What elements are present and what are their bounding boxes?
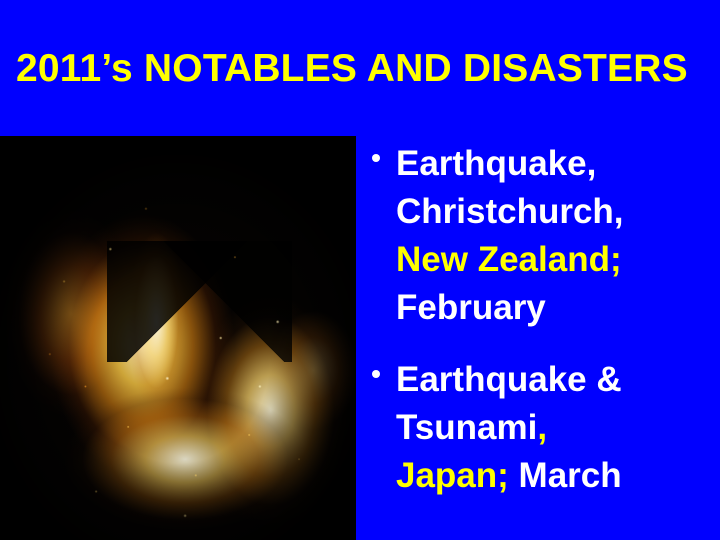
page-title: 2011’s NOTABLES AND DISASTERS: [16, 46, 706, 92]
bullet-line: Tsunami,: [396, 404, 712, 452]
photo-vignette: [0, 136, 356, 540]
bullet-line: Earthquake &: [396, 356, 712, 404]
bullet-line: Christchurch,: [396, 188, 712, 236]
bullet-text-run: Earthquake,: [396, 144, 596, 183]
bullet-text-run-highlight: Japan;: [396, 456, 509, 495]
bullet-text-run: Tsunami: [396, 408, 537, 447]
bullet-point-icon: [372, 154, 380, 162]
list-item: Earthquake & Tsunami, Japan; March: [370, 356, 712, 500]
presentation-slide: 2011’s NOTABLES AND DISASTERS Earthquake…: [0, 0, 720, 540]
bullet-text-run: February: [396, 288, 546, 327]
bullet-list: Earthquake, Christchurch, New Zealand; F…: [370, 140, 712, 524]
bullet-line: New Zealand;: [396, 236, 712, 284]
bullet-line: February: [396, 284, 712, 332]
bullet-text-run: March: [509, 456, 622, 495]
bullet-text-run: Christchurch,: [396, 192, 624, 231]
bullet-line: Earthquake,: [396, 140, 712, 188]
bullet-point-icon: [372, 370, 380, 378]
bullet-line: Japan; March: [396, 452, 712, 500]
bullet-text-block: Earthquake & Tsunami, Japan; March: [396, 356, 712, 500]
list-item: Earthquake, Christchurch, New Zealand; F…: [370, 140, 712, 332]
bullet-text-run-highlight: New Zealand;: [396, 240, 622, 279]
bullet-text-run: Earthquake &: [396, 360, 622, 399]
bullet-text-block: Earthquake, Christchurch, New Zealand; F…: [396, 140, 712, 332]
fire-disaster-photo: [0, 136, 356, 540]
bullet-text-run-highlight: ,: [537, 408, 547, 447]
